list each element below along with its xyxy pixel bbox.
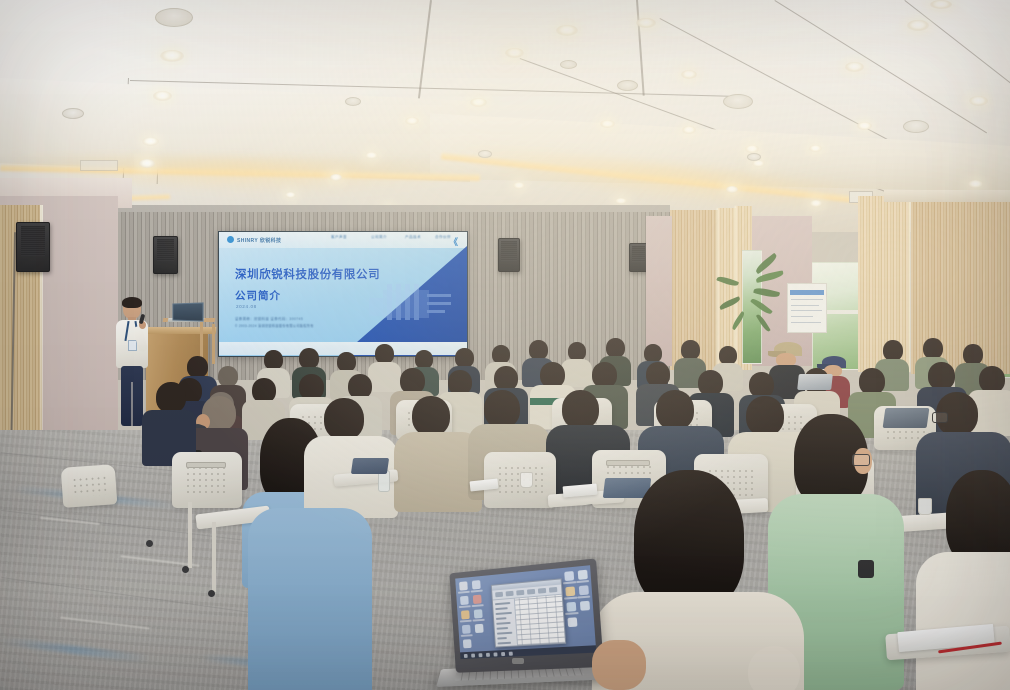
paper-cup	[520, 472, 533, 488]
ceiling-vent	[80, 160, 118, 171]
attendee-laptop-far	[883, 408, 930, 428]
wall-speaker-left	[16, 222, 50, 272]
desktop-icon[interactable]	[564, 571, 574, 581]
paper-cup	[918, 498, 932, 515]
chair-back	[61, 464, 118, 508]
slide-date: 2024.08	[236, 304, 257, 309]
ceiling-downlight	[752, 160, 765, 167]
laptop-brand-logo	[512, 658, 524, 664]
ceiling-downlight	[139, 159, 155, 168]
desktop-icon[interactable]	[567, 617, 577, 627]
ceiling-downlight	[142, 137, 159, 146]
desktop-icon[interactable]	[460, 596, 469, 605]
ceiling-speaker	[723, 94, 753, 109]
desktop-icon[interactable]	[580, 601, 590, 611]
ceiling-speaker	[155, 8, 193, 27]
ceiling-downlight	[365, 152, 378, 159]
slide-footer-item: 公司简介	[371, 235, 387, 240]
ceiling-downlight	[600, 120, 615, 128]
ceiling-downlight	[513, 182, 525, 189]
spreadsheet-window[interactable]	[491, 578, 566, 647]
ceiling-downlight	[556, 25, 578, 36]
taskbar-icon[interactable]	[486, 652, 490, 656]
taskbar-icon[interactable]	[493, 652, 497, 656]
wall-speaker-center-left	[153, 236, 178, 274]
slide-footer-item: 客户声音	[331, 235, 347, 240]
attendee-laptop-far	[797, 374, 833, 390]
small-device	[858, 560, 874, 578]
slide-title: 深圳欣锐科技股份有限公司	[235, 266, 380, 282]
slide-note-line-2: © 2003-2024 深圳欣锐科技股份有限公司版权所有	[235, 323, 314, 328]
wall-cornice	[884, 190, 1010, 202]
shoulder	[748, 646, 800, 690]
ceiling-downlight	[968, 180, 983, 188]
taskbar-icon[interactable]	[478, 653, 482, 657]
podium-leg	[212, 324, 215, 364]
attendee-laptop[interactable]	[440, 566, 612, 690]
chair-caster	[208, 590, 215, 597]
company-logo-icon	[227, 236, 234, 243]
slide-footer-item: 产品技术	[405, 235, 421, 240]
chair-handle	[606, 460, 650, 466]
slide-subtitle: 公司简介	[235, 288, 281, 303]
attendee-laptop-far	[351, 458, 389, 474]
ceiling-speaker	[903, 120, 929, 133]
chair-caster	[146, 540, 153, 547]
desktop-icon[interactable]	[462, 625, 471, 634]
taskbar-icon[interactable]	[471, 653, 475, 657]
slide-note-line-1: 证券简称：欣锐科技 证券代码：300745	[235, 316, 303, 321]
presenter-hair	[122, 297, 142, 308]
chair-caster	[182, 566, 189, 573]
desktop-icon[interactable]	[565, 586, 575, 596]
projected-slide: SHINRY 欣锐科技 《 深圳欣锐科技股份有限公司 公司简介 2024.08 …	[219, 232, 467, 356]
ceiling-downlight	[160, 50, 184, 62]
ceiling-downlight	[857, 122, 872, 130]
taskbar-start-icon[interactable]	[464, 653, 468, 657]
chair-back	[172, 452, 242, 508]
window-side-pane[interactable]	[493, 599, 518, 647]
ceiling-downlight	[615, 198, 627, 204]
ceiling-downlight	[809, 145, 822, 152]
desktop-icon[interactable]	[475, 624, 484, 633]
projection-screen: SHINRY 欣锐科技 《 深圳欣锐科技股份有限公司 公司简介 2024.08 …	[218, 231, 468, 357]
ceiling-downlight	[681, 70, 697, 79]
chair-post	[212, 522, 216, 592]
company-logo-text: SHINRY 欣锐科技	[237, 237, 281, 244]
taskbar[interactable]	[460, 645, 596, 659]
ceiling-speaker	[560, 60, 577, 69]
wall-notice-poster	[787, 283, 827, 333]
glasses-icon	[932, 412, 948, 423]
taskbar-icon[interactable]	[501, 652, 505, 656]
conference-room-photo: SHINRY 欣锐科技 《 深圳欣锐科技股份有限公司 公司简介 2024.08 …	[0, 0, 1010, 690]
chair-handle	[186, 462, 226, 468]
presenter-leg-gap	[131, 382, 133, 426]
ceiling-downlight	[505, 48, 524, 58]
laptop-lid	[449, 558, 603, 672]
slide-product-illustration	[365, 276, 461, 334]
ceiling-downlight	[930, 0, 952, 9]
desktop-icon[interactable]	[579, 585, 589, 595]
potted-palm	[736, 262, 784, 338]
desktop-icon[interactable]	[463, 639, 472, 648]
chair-post	[188, 502, 192, 568]
desktop-icon[interactable]	[472, 580, 481, 589]
typing-hand	[592, 640, 646, 690]
ceiling-speaker	[62, 108, 84, 119]
slide-footer-item: 合作伙伴	[435, 235, 451, 240]
podium-laptop-screen	[172, 302, 203, 321]
ceiling-downlight	[330, 174, 342, 181]
ceiling-downlight	[845, 62, 864, 72]
desktop-icon[interactable]	[578, 570, 588, 580]
ceiling-downlight	[726, 186, 738, 193]
desktop-icon[interactable]	[566, 602, 576, 612]
ceiling-downlight	[285, 192, 296, 198]
ceiling-downlight	[682, 126, 696, 134]
desktop-icon[interactable]	[461, 610, 470, 619]
ceiling-speaker	[617, 80, 638, 91]
ceiling-downlight	[810, 200, 822, 207]
ceiling-speaker	[345, 97, 361, 106]
wall-speaker-center-right	[498, 238, 520, 272]
ceiling-downlight	[470, 98, 487, 107]
laptop-screen[interactable]	[455, 565, 596, 659]
ceiling-downlight	[153, 91, 172, 101]
wall-panel-light-gap	[716, 208, 719, 370]
desktop-icon[interactable]	[473, 595, 482, 604]
ceiling-speaker	[478, 150, 492, 158]
ceiling-speaker	[747, 153, 761, 161]
ceiling-downlight	[907, 20, 929, 31]
ceiling-downlight	[969, 96, 988, 106]
ceiling-downlight	[405, 117, 419, 125]
ceiling-downlight	[745, 145, 759, 153]
taskbar-icon[interactable]	[509, 651, 513, 655]
ceiling-downlight	[636, 18, 656, 28]
desktop-icon[interactable]	[474, 609, 483, 618]
glasses-icon	[852, 454, 870, 466]
desktop-icon[interactable]	[459, 581, 468, 590]
